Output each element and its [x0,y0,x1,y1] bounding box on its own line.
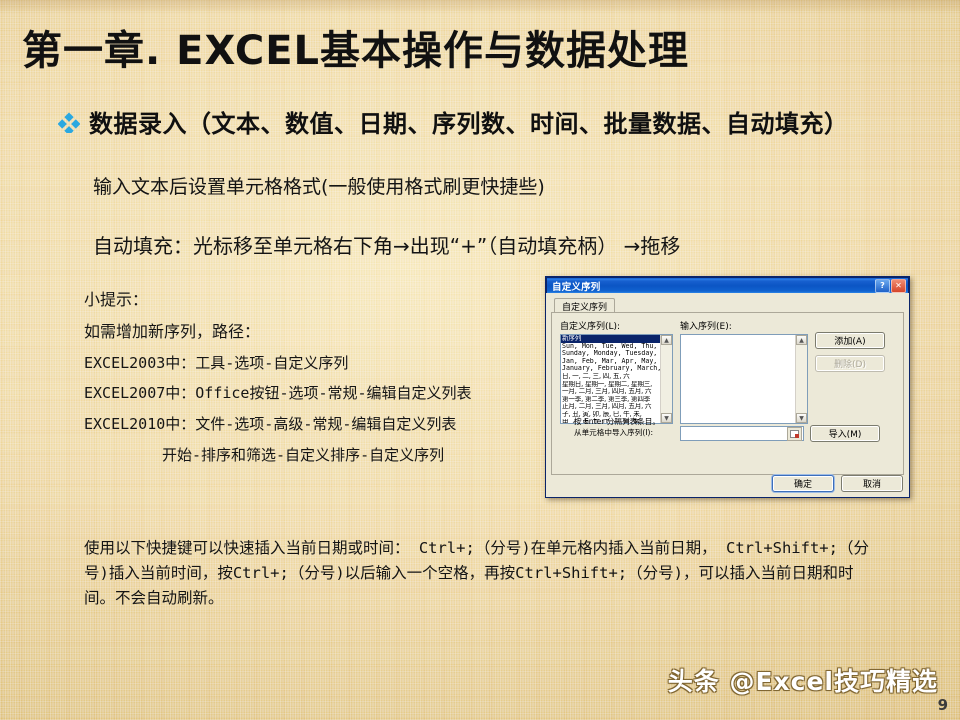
dialog-tabpage: 自定义序列(L): 新序列 Sun, Mon, Tue, Wed, Thu, F… [551,312,904,475]
entries-scrollbar[interactable]: ▲ ▼ [795,335,807,423]
dialog-titlebar[interactable]: 自定义序列 ? ✕ [546,277,909,293]
close-icon[interactable]: ✕ [891,279,906,293]
list-item[interactable]: Sun, Mon, Tue, Wed, Thu, Fri, S [561,343,660,351]
import-row: 导入(M) [680,425,880,442]
list-item[interactable]: January, February, March, April [561,365,660,373]
entries-value[interactable] [681,335,795,423]
import-range-input[interactable] [680,426,804,441]
entries-label: 输入序列(E): [680,319,808,332]
dialog-footer: 确定 取消 [772,475,903,492]
line-cell-format: 输入文本后设置单元格格式(一般使用格式刷更快捷些) [93,172,545,199]
dialog-title: 自定义序列 [552,279,875,293]
bullet-row: 数据录入（文本、数值、日期、序列数、时间、批量数据、自动填充） [58,104,849,139]
cancel-button[interactable]: 取消 [841,475,903,492]
list-item[interactable]: 第一季, 第二季, 第三季, 第四季 [561,396,660,404]
tip-line: EXCEL2007中：Office按钮-选项-常规-编辑自定义列表 [84,386,472,402]
shortcut-paragraph: 使用以下快捷键可以快速插入当前日期或时间： Ctrl+;（分号)在单元格内插入当… [84,536,884,611]
dialog-action-column: 添加(A) 删除(D) [815,319,887,424]
list-item[interactable]: 日, 一, 二, 三, 四, 五, 六 [561,373,660,381]
custom-list-dialog: 自定义序列 ? ✕ 自定义序列 自定义序列(L): 新序列 Sun, [545,276,910,498]
custom-list-scrollbar[interactable]: ▲ ▼ [660,335,672,423]
line-autofill: 自动填充：光标移至单元格右下角→出现“+”（自动填充柄） →拖移 [93,230,680,259]
slide-canvas: 第一章. EXCEL基本操作与数据处理 数据录入（文本、数值、日期、序列数、时间… [0,0,960,720]
scroll-up-icon[interactable]: ▲ [661,335,672,345]
import-button[interactable]: 导入(M) [810,425,880,442]
dialog-columns: 自定义序列(L): 新序列 Sun, Mon, Tue, Wed, Thu, F… [560,319,895,424]
entries-column: 输入序列(E): ▲ ▼ [680,319,808,424]
list-item[interactable]: 星期日, 星期一, 星期二, 星期三, [561,381,660,389]
tip-line: EXCEL2010中：文件-选项-高级-常规-编辑自定义列表 [84,417,472,433]
dialog-window-buttons: ? ✕ [875,279,906,293]
add-button[interactable]: 添加(A) [815,332,885,349]
list-item[interactable]: 新序列 [561,335,660,343]
tip-line: 开始-排序和筛选-自定义排序-自定义序列 [84,448,472,464]
tips-block: 小提示： 如需增加新序列，路径： EXCEL2003中：工具-选项-自定义序列 … [84,292,472,479]
custom-list-listbox[interactable]: 新序列 Sun, Mon, Tue, Wed, Thu, Fri, S Sund… [560,334,673,424]
help-icon[interactable]: ? [875,279,890,293]
entries-textarea[interactable]: ▲ ▼ [680,334,808,424]
scroll-down-icon[interactable]: ▼ [796,413,807,423]
custom-list-label: 自定义序列(L): [560,319,673,332]
diamond-bullet-icon [58,111,80,133]
custom-list-column: 自定义序列(L): 新序列 Sun, Mon, Tue, Wed, Thu, F… [560,319,673,424]
range-picker-icon[interactable] [787,427,802,441]
import-hint-line2: 从单元格中导入序列(I): [574,427,660,438]
custom-list-items: 新序列 Sun, Mon, Tue, Wed, Thu, Fri, S Sund… [561,335,660,423]
tip-line: EXCEL2003中：工具-选项-自定义序列 [84,356,472,372]
scroll-down-icon[interactable]: ▼ [661,413,672,423]
watermark: 头条 @Excel技巧精选 [668,662,938,698]
scroll-up-icon[interactable]: ▲ [796,335,807,345]
import-hint-line1: 按 Enter 分隔列表条目。 [574,416,660,427]
list-item[interactable]: 正月, 二月, 三月, 四月, 五月, 六 [561,403,660,411]
bullet-text: 数据录入（文本、数值、日期、序列数、时间、批量数据、自动填充） [89,104,849,139]
list-item[interactable]: 一月, 二月, 三月, 四月, 五月, 六 [561,388,660,396]
tip-line: 如需增加新序列，路径： [84,324,472,341]
tip-line: 小提示： [84,292,472,309]
import-hint: 按 Enter 分隔列表条目。 从单元格中导入序列(I): [574,416,660,438]
page-number: 9 [938,696,948,714]
ok-button[interactable]: 确定 [772,475,834,492]
list-item[interactable]: Jan, Feb, Mar, Apr, May, Jun, J [561,358,660,366]
delete-button: 删除(D) [815,355,885,372]
dialog-body: 自定义序列 自定义序列(L): 新序列 Sun, Mon, Tue, Wed, … [546,293,909,497]
dialog-tabstrip: 自定义序列 [554,298,904,313]
list-item[interactable]: Sunday, Monday, Tuesday, Wednes [561,350,660,358]
page-title: 第一章. EXCEL基本操作与数据处理 [22,18,689,76]
